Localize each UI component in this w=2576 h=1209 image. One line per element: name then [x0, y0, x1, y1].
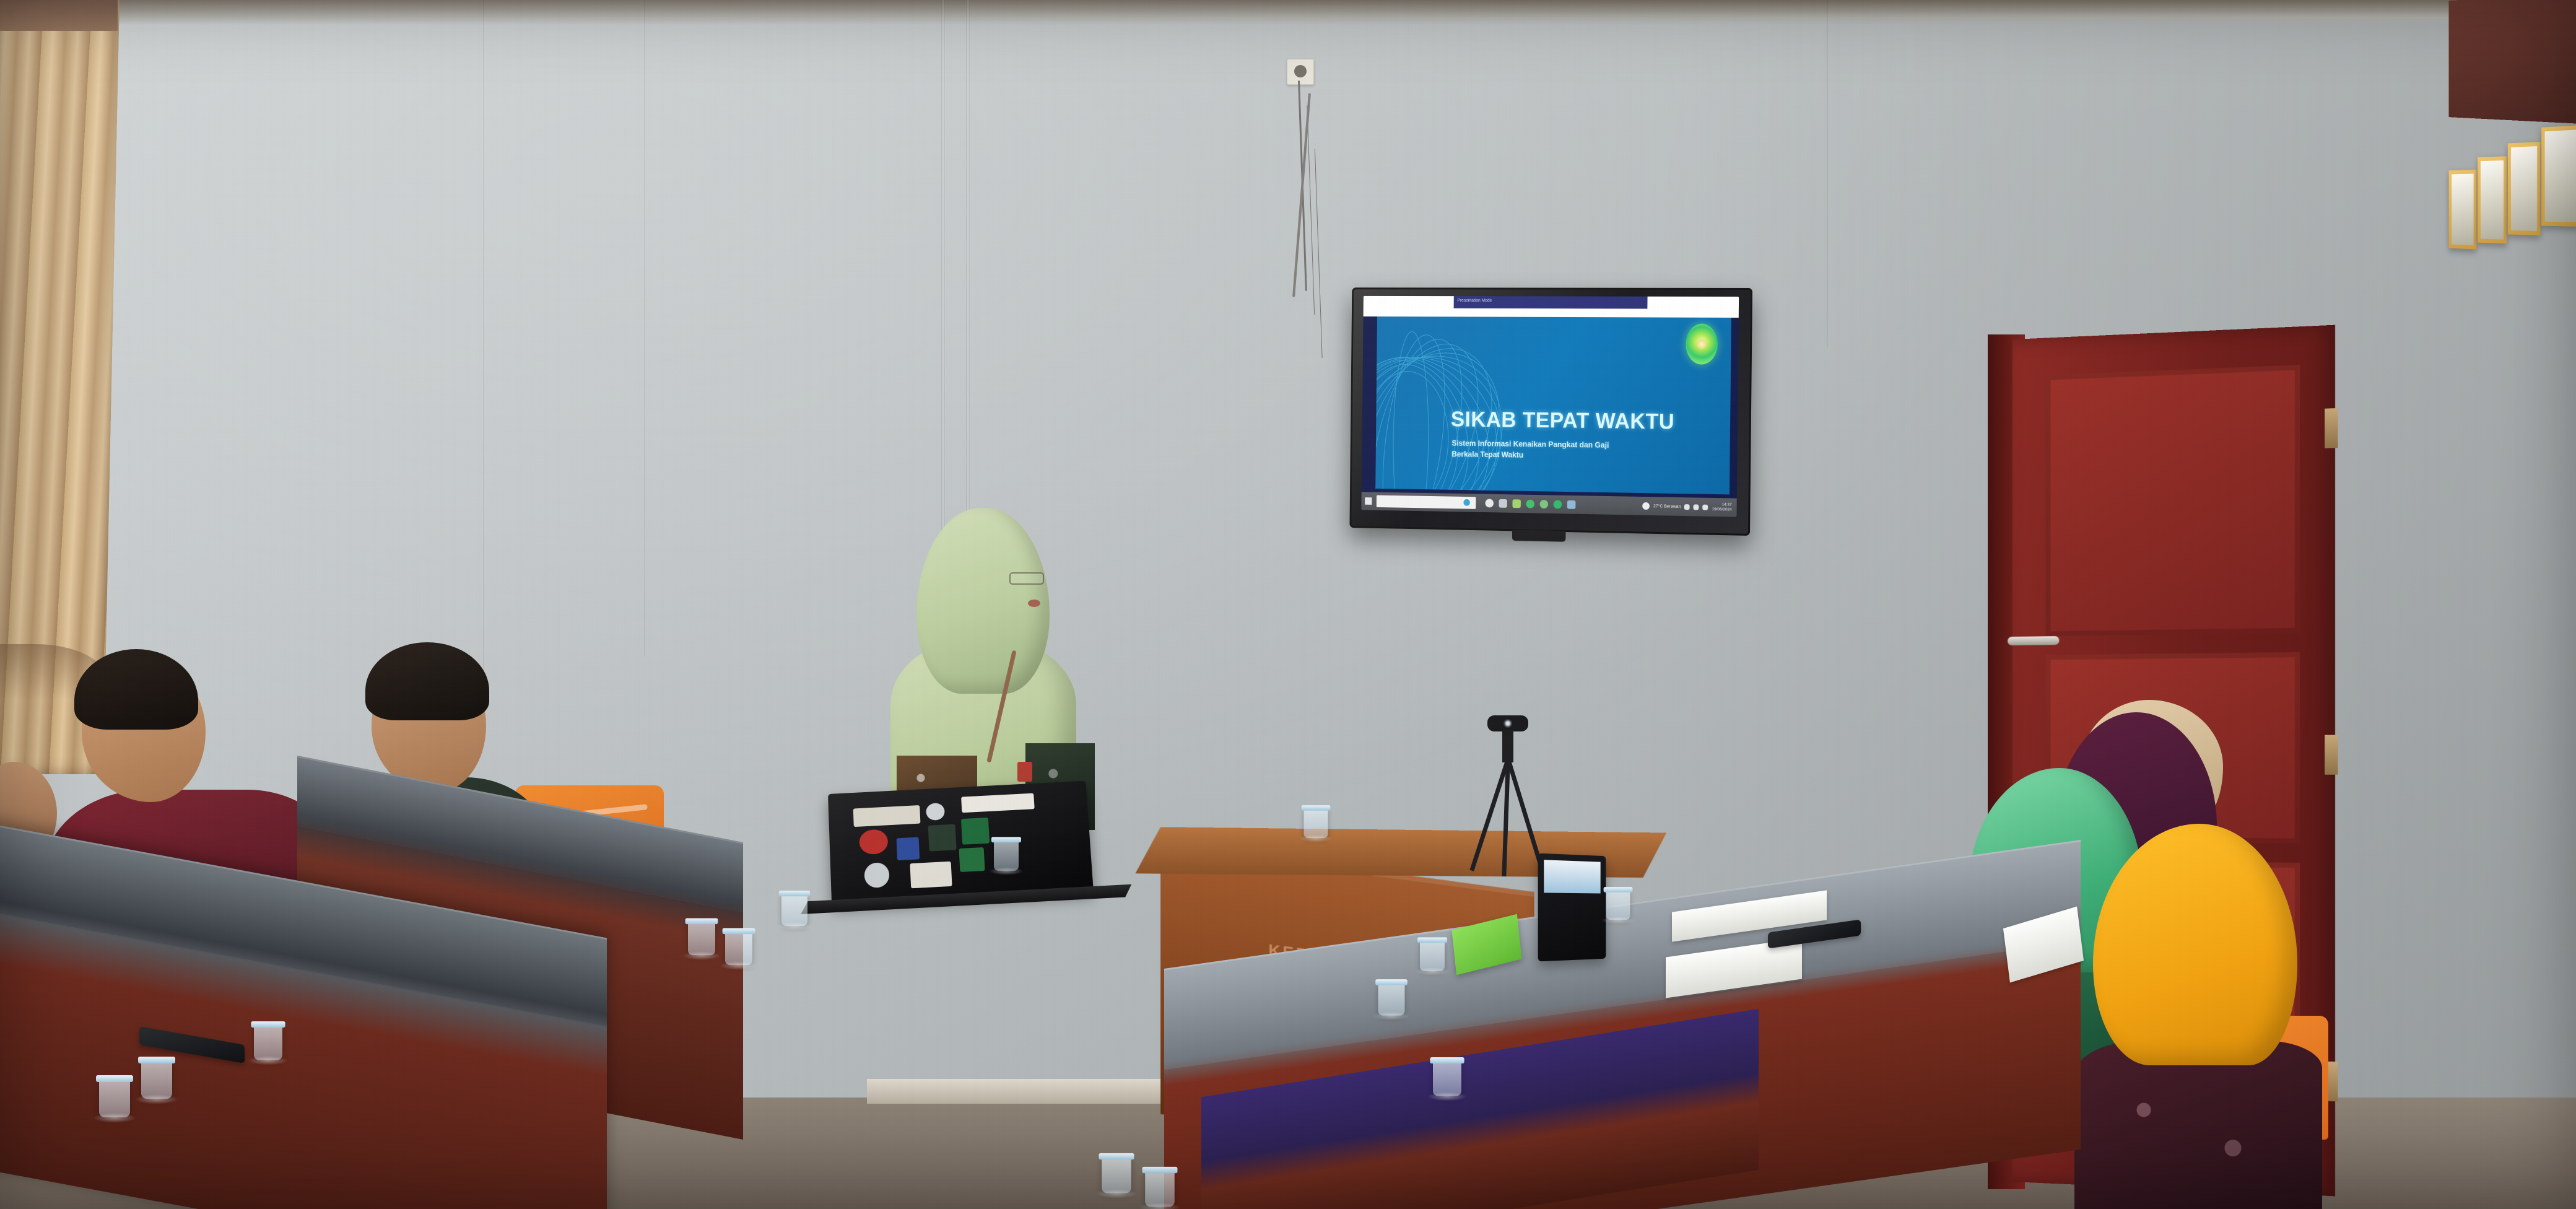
presenter-mouth: [1028, 600, 1040, 607]
person-hair: [365, 642, 489, 720]
whatsapp-icon[interactable]: [1526, 500, 1534, 508]
presentation-slide: SIKAB TEPAT WAKTU Sistem Informasi Kenai…: [1375, 316, 1731, 494]
taskbar-clock[interactable]: 14:37 19/06/2024: [1712, 502, 1731, 513]
weather-label: 27°C Berawan: [1653, 504, 1681, 509]
slide-title: SIKAB TEPAT WAKTU: [1451, 408, 1675, 435]
institution-logo-icon: [1686, 324, 1718, 365]
wall-panel-line: [644, 0, 645, 657]
laptop-sticker: [959, 847, 985, 872]
chrome-icon[interactable]: [1540, 500, 1549, 508]
plug-icon: [1294, 65, 1307, 77]
water-cup: [1606, 890, 1630, 920]
settings-icon[interactable]: [1567, 500, 1576, 509]
water-cup: [994, 840, 1019, 871]
meeting-room-photo: Presentation Mode SIKAB TEPA: [0, 0, 2576, 1209]
water-cup: [1102, 1157, 1131, 1194]
laptop-sticker: [926, 803, 945, 821]
slide-subtitle-line-2: Berkala Tepat Waktu: [1451, 448, 1609, 461]
hijab: [2093, 824, 2297, 1065]
ceiling: [0, 0, 2576, 25]
certificate-frame: [2541, 125, 2576, 227]
door-panel-top: [2046, 365, 2300, 636]
person-hair: [74, 649, 198, 730]
eyeglasses-icon: [1009, 572, 1044, 585]
laptop-sticker: [853, 805, 921, 827]
laptop-sticker: [859, 829, 889, 855]
wall-mounted-tv[interactable]: Presentation Mode SIKAB TEPA: [1349, 287, 1752, 536]
file-explorer-icon[interactable]: [1499, 499, 1507, 508]
laptop-sticker: [961, 793, 1035, 813]
curtain-rod-cover: [0, 0, 118, 31]
seated-woman-yellow-hijab: [2093, 824, 2316, 1208]
door-hinge: [2325, 735, 2338, 775]
water-cup: [688, 922, 715, 956]
spirograph-decoration: [1375, 316, 1542, 494]
battery-icon[interactable]: [1703, 504, 1708, 510]
framed-certificates-group: [2449, 87, 2576, 310]
person-body: [2074, 1041, 2322, 1209]
toolbar-ribbon-right: [1587, 297, 1647, 309]
laptop-lid: [828, 781, 1094, 906]
water-cup: [99, 1079, 130, 1117]
water-cup: [1378, 982, 1405, 1015]
weather-icon: [1642, 502, 1650, 510]
network-icon[interactable]: [1684, 504, 1690, 510]
taskbar-system-tray[interactable]: 27°C Berawan 14:37 19/06/2024: [1642, 501, 1736, 513]
windows-start-icon[interactable]: [1365, 497, 1372, 505]
clock-date: 19/06/2024: [1712, 507, 1731, 513]
water-cup: [1433, 1060, 1461, 1096]
certificate-frame: [2449, 170, 2477, 250]
water-cup: [1420, 940, 1445, 971]
wall-power-outlet[interactable]: [1287, 59, 1314, 85]
certificate-frame: [2478, 156, 2507, 243]
tv-screen[interactable]: Presentation Mode SIKAB TEPA: [1361, 296, 1739, 517]
laptop-sticker: [928, 824, 957, 852]
powerpoint-icon[interactable]: [1554, 500, 1562, 508]
water-cup: [254, 1024, 282, 1060]
store-icon[interactable]: [1512, 499, 1521, 508]
edge-icon[interactable]: [1486, 499, 1494, 507]
presenter-woman: [890, 508, 1095, 818]
laptop-sticker: [897, 837, 920, 861]
wall-panel-line: [1827, 0, 1828, 347]
water-cup: [1304, 808, 1328, 838]
slide-subtitle: Sistem Informasi Kenaikan Pangkat dan Ga…: [1451, 438, 1609, 462]
laptop-sticker: [864, 862, 890, 888]
search-input[interactable]: [1377, 495, 1476, 508]
volume-icon[interactable]: [1694, 504, 1699, 510]
webcam-on-tripod[interactable]: [1468, 715, 1548, 876]
laptop-sticker: [961, 818, 990, 845]
laptop-sticker: [910, 862, 952, 889]
laptop-with-stickers[interactable]: [828, 781, 1094, 906]
water-cup: [781, 894, 807, 926]
wall-panel-line: [483, 0, 484, 681]
door-hinge: [2325, 408, 2338, 448]
webcam-icon: [1487, 715, 1528, 731]
water-cup: [141, 1060, 172, 1099]
tv-mount: [1512, 530, 1565, 541]
door-handle[interactable]: [2008, 636, 2059, 645]
presenter-id-badge: [1017, 762, 1032, 782]
certificate-frame: [2508, 142, 2541, 235]
toolbar-ribbon: Presentation Mode: [1454, 296, 1588, 308]
water-cup: [725, 932, 752, 966]
presentation-toolbar[interactable]: Presentation Mode: [1364, 296, 1739, 318]
tripod-neck: [1502, 730, 1513, 762]
water-cup: [1145, 1171, 1175, 1207]
tablet-stand[interactable]: [1538, 853, 1606, 962]
taskbar-icon-group[interactable]: [1486, 499, 1576, 508]
